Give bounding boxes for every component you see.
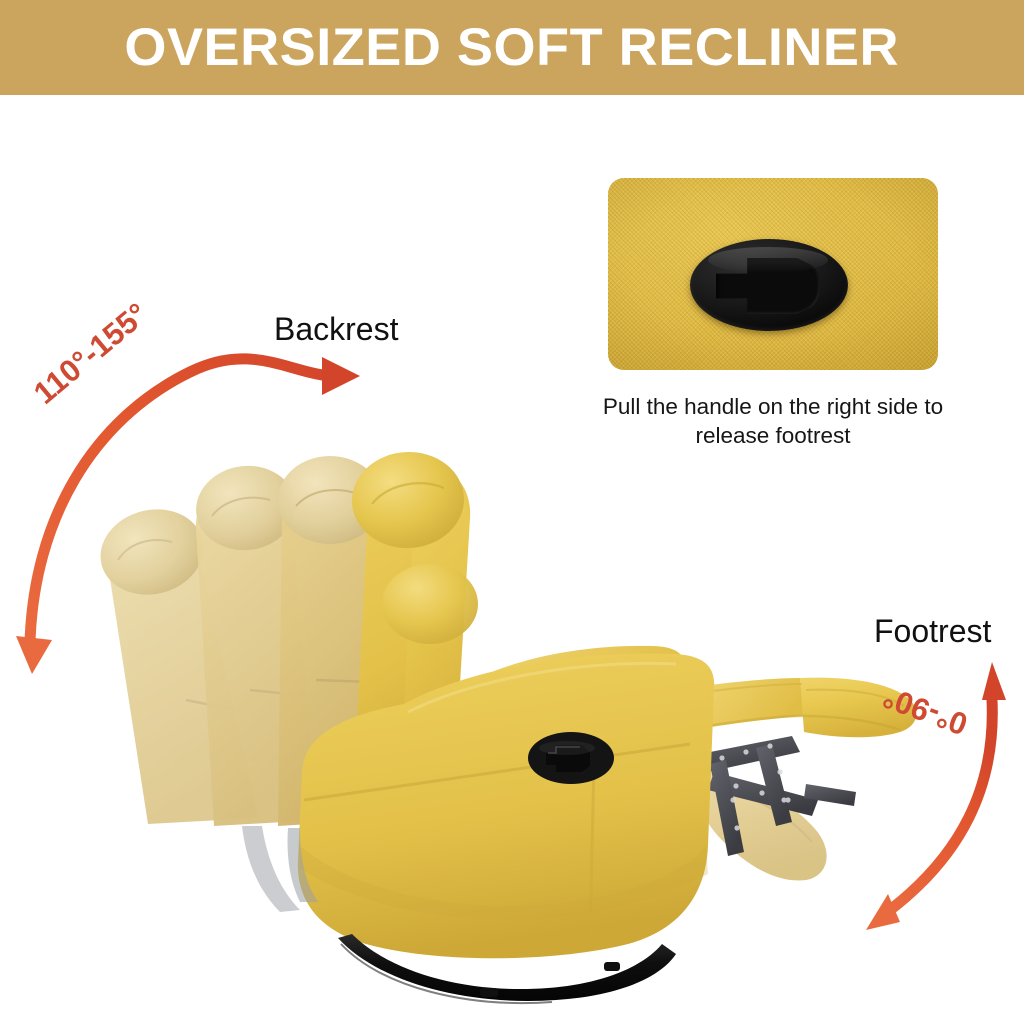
footrest-label: Footrest [874,613,991,650]
photo-vignette [608,178,938,370]
handle-instruction-caption: Pull the handle on the right side to rel… [590,393,956,451]
backrest-arc-arrow [16,357,360,674]
infographic-page: OVERSIZED SOFT RECLINER [0,0,1024,1024]
backrest-label: Backrest [274,311,398,348]
handle-detail-photo [608,178,938,370]
annotation-arrows [0,0,1024,1024]
